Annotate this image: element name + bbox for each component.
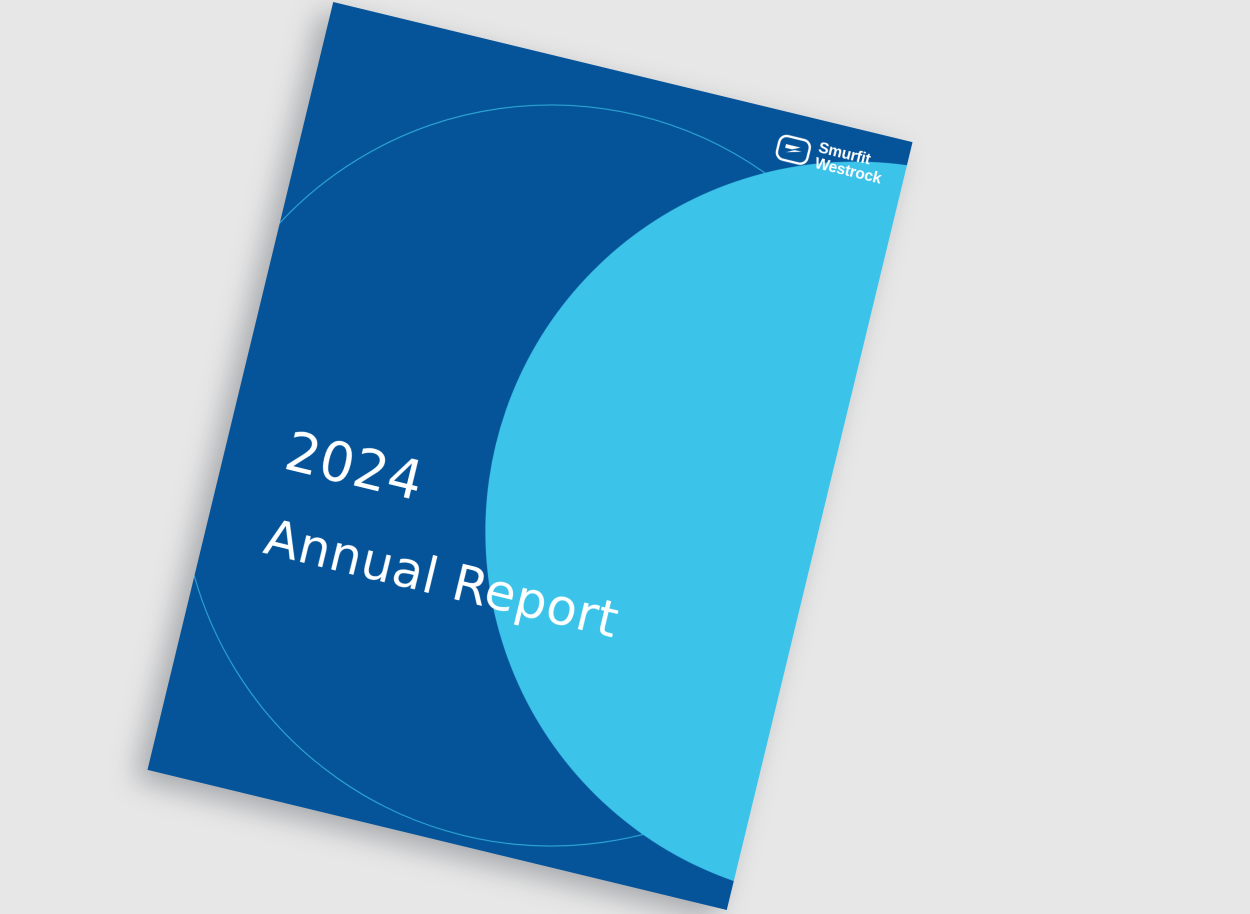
smurfit-westrock-mark-icon <box>774 133 813 167</box>
report-cover-document[interactable]: Smurfit Westrock 2024 Annual Report <box>147 2 912 910</box>
scene-backdrop: Smurfit Westrock 2024 Annual Report <box>0 0 1250 914</box>
cover-page-surface: Smurfit Westrock 2024 Annual Report <box>147 2 912 910</box>
